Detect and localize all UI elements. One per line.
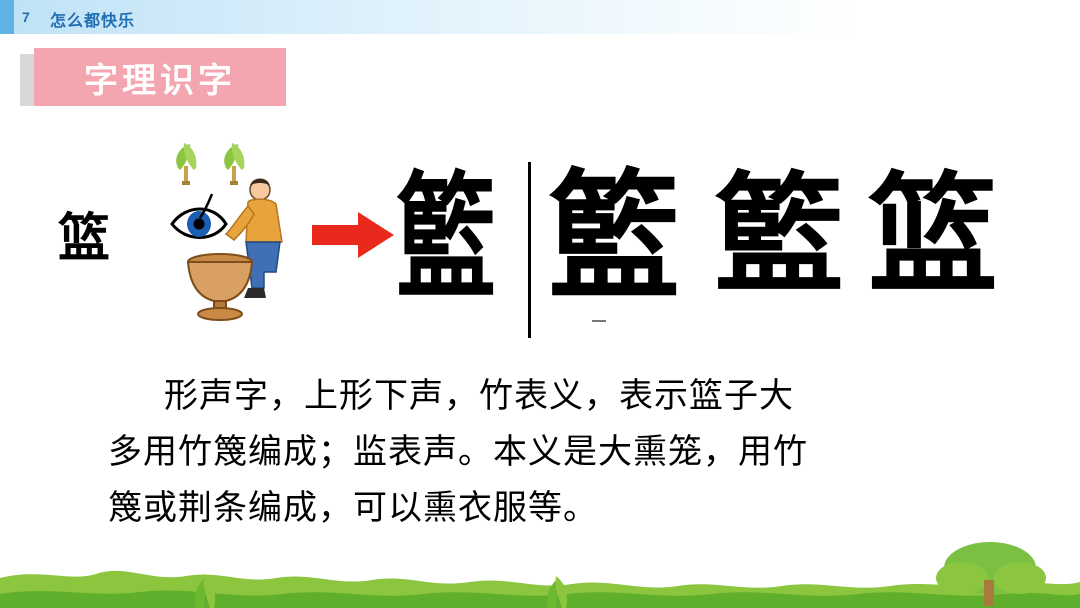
glyph-underline-mark bbox=[592, 320, 606, 322]
lesson-title: 怎么都快乐 bbox=[50, 7, 135, 31]
glyph-evolution-row: 籃 籃 籃 篮 bbox=[396, 152, 1006, 337]
glyph-regular-traditional: 籃 bbox=[714, 170, 844, 300]
explanation-line-1: 形声字，上形下声，竹表义，表示篮子大 bbox=[108, 368, 988, 424]
explanation-paragraph: 形声字，上形下声，竹表义，表示篮子大 多用竹篾编成；监表声。本义是大熏笼，用竹 … bbox=[108, 368, 988, 536]
header-bar: 7 怎么都快乐 bbox=[0, 0, 1080, 34]
grass-decoration bbox=[0, 516, 1080, 608]
glyph-divider bbox=[528, 162, 531, 338]
glyph-simplified: 篮 bbox=[868, 170, 998, 300]
explanation-line-2: 多用竹篾编成；监表声。本义是大熏笼，用竹 bbox=[108, 424, 988, 480]
bamboo-person-basin-pictograph-icon bbox=[160, 138, 310, 323]
slide-root: 7 怎么都快乐 字理识字 篮 bbox=[0, 0, 1080, 608]
header-accent-block bbox=[0, 0, 14, 34]
section-tag: 字理识字 bbox=[34, 48, 286, 106]
lead-character: 篮 bbox=[58, 196, 110, 271]
glyph-seal-script: 籃 bbox=[396, 170, 496, 307]
glyph-clerical-script: 籃 bbox=[548, 168, 680, 308]
section-tag-label: 字理识字 bbox=[84, 53, 236, 102]
lesson-number: 7 bbox=[22, 9, 30, 25]
evolution-arrow-icon bbox=[312, 212, 394, 258]
